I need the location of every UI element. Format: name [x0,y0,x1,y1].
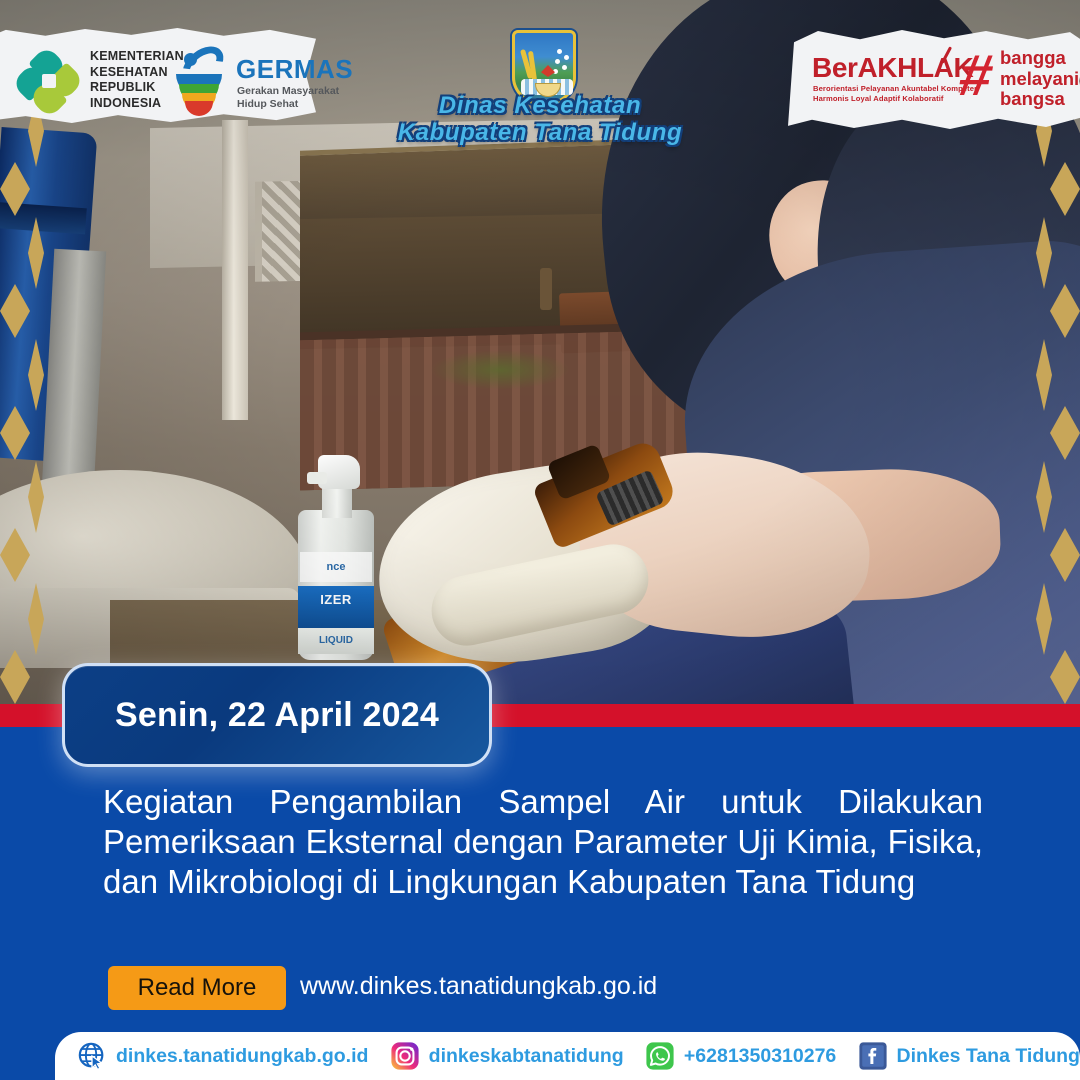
footer-item-instagram[interactable]: dinkeskabtanatidung [390,1041,624,1071]
footer-item-whatsapp[interactable]: +6281350310276 [645,1041,836,1071]
photo-bolt [540,268,552,310]
beraklak-wordmark: BerAKHLAK [812,52,973,84]
footer-label-whatsapp: +6281350310276 [684,1045,836,1068]
photo-sanitizer-label-bottom: LIQUID [298,628,374,654]
instagram-icon [390,1041,420,1071]
read-more-button[interactable]: Read More [108,966,286,1010]
emblem-title-line1: Dinas Kesehatan [0,92,1080,119]
date-badge: Senin, 22 April 2024 [62,663,492,767]
photo-sanitizer-neck [322,486,352,518]
page-title: Kegiatan Pengambilan Sampel Air untuk Di… [103,782,983,902]
whatsapp-icon [645,1041,675,1071]
photo-sanitizer-label-top: nce [300,552,372,582]
emblem-title-line2: Kabupaten Tana Tidung [0,119,1080,146]
website-url: www.dinkes.tanatidungkab.go.id [300,972,657,1001]
photo-sanitizer-nozzle [307,472,327,484]
photo-algae-patch [430,350,570,390]
globe-cursor-icon [77,1041,107,1071]
footer-item-facebook[interactable]: Dinkes Tana Tidung [858,1041,1080,1071]
germas-wordmark: GERMAS [236,54,353,85]
footer-label-facebook: Dinkes Tana Tidung [897,1045,1080,1068]
content-panel [0,727,1080,1080]
photo-white-column [222,120,248,420]
footer-item-website[interactable]: dinkes.tanatidungkab.go.id [77,1041,368,1071]
footer-label-website: dinkes.tanatidungkab.go.id [116,1045,368,1068]
photo-sanitizer-label-main: IZER [300,592,372,607]
footer-contact-bar: dinkes.tanatidungkab.go.id dinkeskabtana… [55,1032,1080,1080]
poster-canvas: nce IZER LIQUID KEMENTERIAN KESEHATAN RE… [0,0,1080,1080]
date-label: Senin, 22 April 2024 [115,696,439,735]
facebook-icon [858,1041,888,1071]
emblem-title: Dinas Kesehatan Kabupaten Tana Tidung [0,92,1080,146]
footer-label-instagram: dinkeskabtanatidung [429,1045,624,1068]
